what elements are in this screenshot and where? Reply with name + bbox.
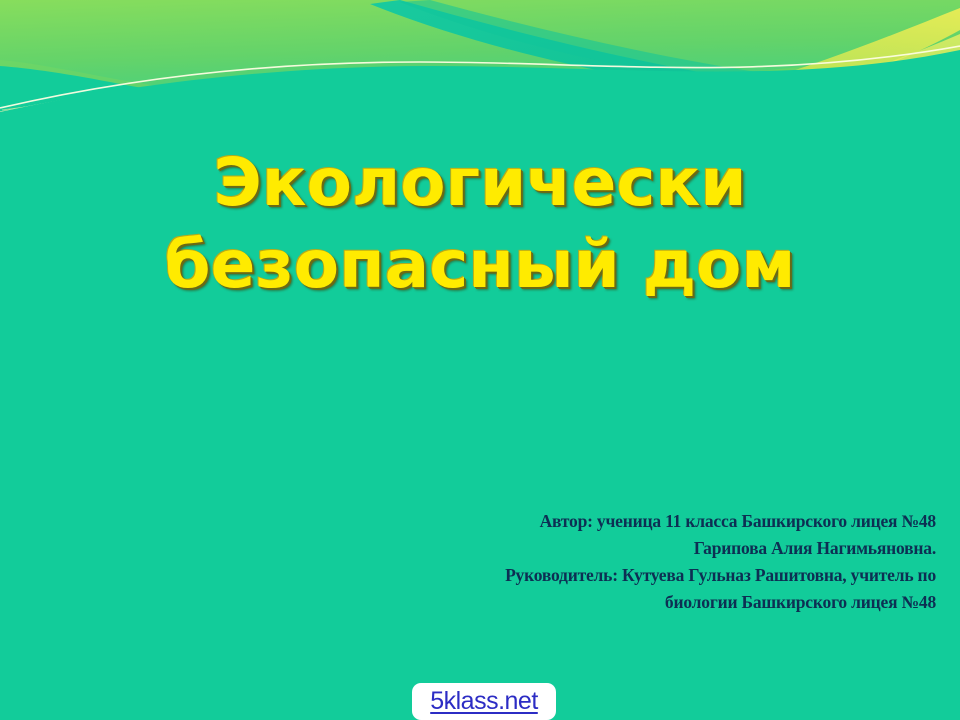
presentation-slide: Экологически безопасный дом Автор: учени… [0,0,960,720]
author-line-2: Гарипова Алия Нагимьяновна. [296,535,936,562]
slide-title-line-2: безопасный дом [0,224,960,306]
author-line-3: Руководитель: Кутуева Гульназ Рашитовна,… [296,562,936,589]
watermark-link-label[interactable]: 5klass.net [430,688,538,715]
author-line-1: Автор: ученица 11 класса Башкирского лиц… [296,508,936,535]
author-credits: Автор: ученица 11 класса Башкирского лиц… [296,508,936,616]
watermark-badge[interactable]: 5klass.net [412,683,556,720]
slide-title-line-1: Экологически [0,142,960,224]
author-line-4: биологии Башкирского лицея №48 [296,589,936,616]
slide-title: Экологически безопасный дом [0,142,960,306]
